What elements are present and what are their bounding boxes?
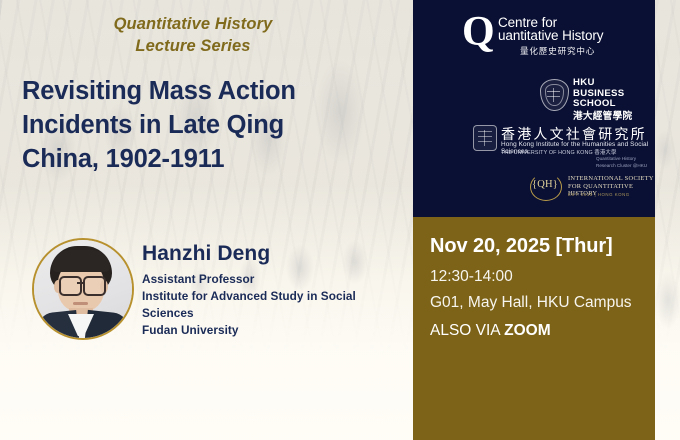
speaker-portrait-illustration: [34, 240, 132, 338]
research-cluster-line1: Quantitative History: [596, 155, 656, 162]
speaker-university: Fudan University: [142, 322, 410, 339]
speaker-details: Assistant Professor Institute for Advanc…: [142, 271, 410, 339]
event-zoom-note: ALSO VIA ZOOM: [430, 321, 655, 340]
hku-crest-icon: [540, 79, 569, 111]
isqh-logo: {QH} INTERNATIONAL SOCIETY FOR QUANTITAT…: [528, 172, 658, 204]
isqh-qh-mark: {QH}: [528, 179, 562, 190]
series-label: Quantitative History Lecture Series: [28, 14, 358, 58]
cqh-line2: uantitative History: [498, 29, 603, 44]
cqh-chinese-name: 量化歷史研究中心: [520, 45, 595, 57]
hku-business-school-logo: HKU BUSINESS SCHOOL 港大經管學院: [540, 78, 650, 114]
avatar: [32, 238, 134, 340]
hku-bs-text: HKU BUSINESS SCHOOL 港大經管學院: [573, 78, 632, 122]
isqh-wreath-icon: {QH}: [528, 173, 562, 199]
title-line-2: Incidents in Late Qing: [22, 108, 392, 142]
event-details-panel: Nov 20, 2025 [Thur] 12:30-14:00 G01, May…: [413, 217, 655, 440]
title-line-3: China, 1902-1911: [22, 142, 392, 176]
hku-seal-icon: [473, 125, 497, 151]
hku-bs-chinese: 港大經管學院: [573, 112, 632, 123]
lecture-poster: Quantitative History Lecture Series Revi…: [0, 0, 680, 440]
zoom-label: ZOOM: [504, 322, 551, 339]
event-time: 12:30-14:00: [430, 267, 655, 286]
left-content: Quantitative History Lecture Series Revi…: [0, 0, 413, 440]
event-venue: G01, May Hall, HKU Campus: [430, 293, 655, 312]
isqh-line3: EST. 2013 | HONG KONG: [568, 192, 630, 197]
cqh-q-mark-icon: Q: [462, 16, 495, 52]
research-cluster-line2: Research Cluster @HKU: [596, 162, 656, 169]
series-label-line2: Lecture Series: [28, 36, 358, 58]
event-date: Nov 20, 2025 [Thur]: [430, 234, 655, 258]
speaker-affiliation: Institute for Advanced Study in Social S…: [142, 288, 410, 322]
speaker-title: Assistant Professor: [142, 271, 410, 288]
research-cluster-caption: Quantitative History Research Cluster @H…: [596, 155, 656, 170]
zoom-prefix: ALSO VIA: [430, 322, 504, 339]
series-label-line1: Quantitative History: [114, 15, 273, 33]
isqh-line1: INTERNATIONAL SOCIETY: [568, 175, 654, 182]
speaker-name: Hanzhi Deng: [142, 242, 270, 266]
event-details: Nov 20, 2025 [Thur] 12:30-14:00 G01, May…: [430, 234, 655, 340]
page-title: Revisiting Mass Action Incidents in Late…: [22, 74, 392, 176]
hku-bs-line3: SCHOOL: [573, 99, 632, 110]
hkihss-logo: 香港人文社會研究所 Hong Kong Institute for the Hu…: [473, 125, 653, 155]
centre-for-quantitative-history-logo: Q Centre for uantitative History 量化歷史研究中…: [462, 14, 652, 60]
logo-panel: Q Centre for uantitative History 量化歷史研究中…: [413, 0, 655, 217]
title-line-1: Revisiting Mass Action: [22, 74, 392, 108]
